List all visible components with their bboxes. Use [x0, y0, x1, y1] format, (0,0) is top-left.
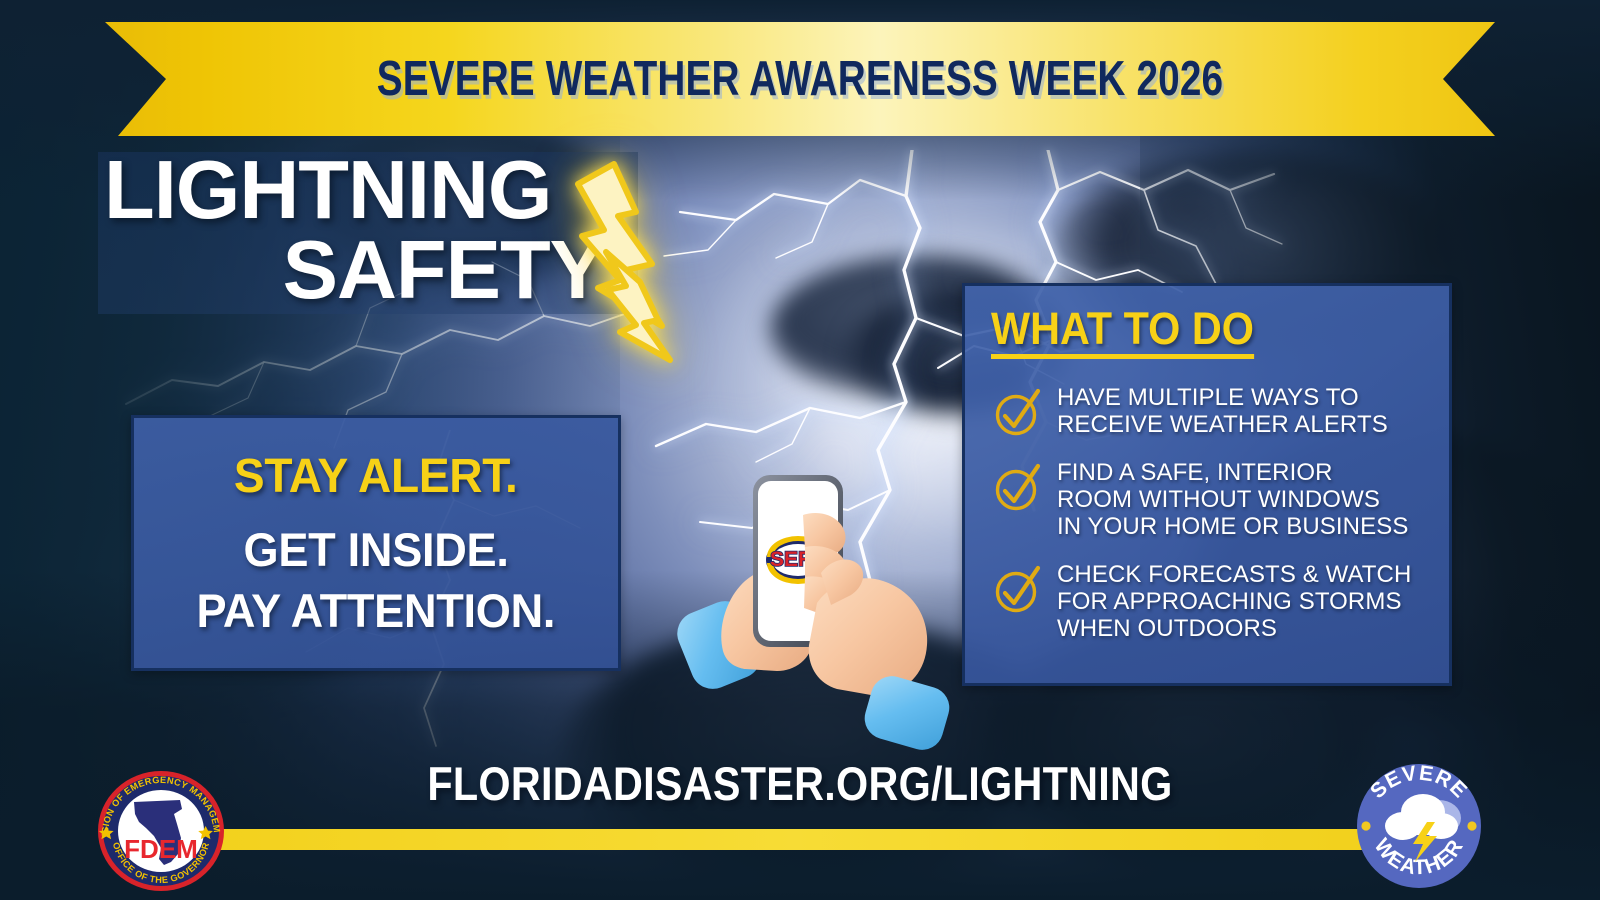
fdem-center-text: FDEM: [124, 834, 198, 864]
what-to-do-list: HAVE MULTIPLE WAYS TO RECEIVE WEATHER AL…: [991, 385, 1431, 643]
headline-line-1: LIGHTNING: [104, 150, 604, 230]
severe-weather-badge: SEVERE WEATHER: [1345, 752, 1493, 900]
right-hand: [809, 559, 927, 695]
alert-line-2: GET INSIDE.: [243, 522, 508, 577]
list-item-label: HAVE MULTIPLE WAYS TO RECEIVE WEATHER AL…: [1057, 385, 1388, 439]
banner-title: SEVERE WEATHER AWARENESS WEEK 2026: [168, 22, 1432, 136]
badge-dot: [1361, 821, 1370, 830]
hands-holding-phone-illustration: SERT: [645, 455, 975, 755]
stay-alert-panel: STAY ALERT. GET INSIDE. PAY ATTENTION.: [131, 415, 621, 671]
list-item: CHECK FORECASTS & WATCH FOR APPROACHING …: [991, 562, 1431, 643]
alert-line-1: STAY ALERT.: [234, 449, 518, 504]
list-item: HAVE MULTIPLE WAYS TO RECEIVE WEATHER AL…: [991, 385, 1431, 439]
website-url[interactable]: FLORIDADISASTER.ORG/LIGHTNING: [96, 756, 1504, 811]
infographic-canvas: SEVERE WEATHER AWARENESS WEEK 2026 LIGHT…: [0, 0, 1600, 900]
list-item-label: CHECK FORECASTS & WATCH FOR APPROACHING …: [1057, 562, 1411, 643]
headline-line-2: SAFETY: [104, 230, 604, 310]
check-circle-icon: [991, 564, 1043, 616]
list-item: FIND A SAFE, INTERIOR ROOM WITHOUT WINDO…: [991, 460, 1431, 541]
footer-accent-bar: [150, 829, 1440, 850]
title-ribbon: SEVERE WEATHER AWARENESS WEEK 2026: [0, 22, 1600, 136]
lightning-bolt-icon: [540, 160, 720, 420]
badge-dot: [1467, 821, 1476, 830]
what-to-do-title: WHAT TO DO: [991, 306, 1254, 359]
check-circle-icon: [991, 387, 1043, 439]
fdem-seal-logo: DIVISION OF EMERGENCY MANAGEMENT OFFICE …: [88, 762, 234, 900]
what-to-do-panel: WHAT TO DO HAVE MULTIPLE WAYS TO RECEIVE…: [962, 283, 1452, 686]
alert-line-3: PAY ATTENTION.: [197, 583, 556, 638]
list-item-label: FIND A SAFE, INTERIOR ROOM WITHOUT WINDO…: [1057, 460, 1408, 541]
page-title: LIGHTNING SAFETY: [104, 150, 604, 309]
check-circle-icon: [991, 462, 1043, 514]
